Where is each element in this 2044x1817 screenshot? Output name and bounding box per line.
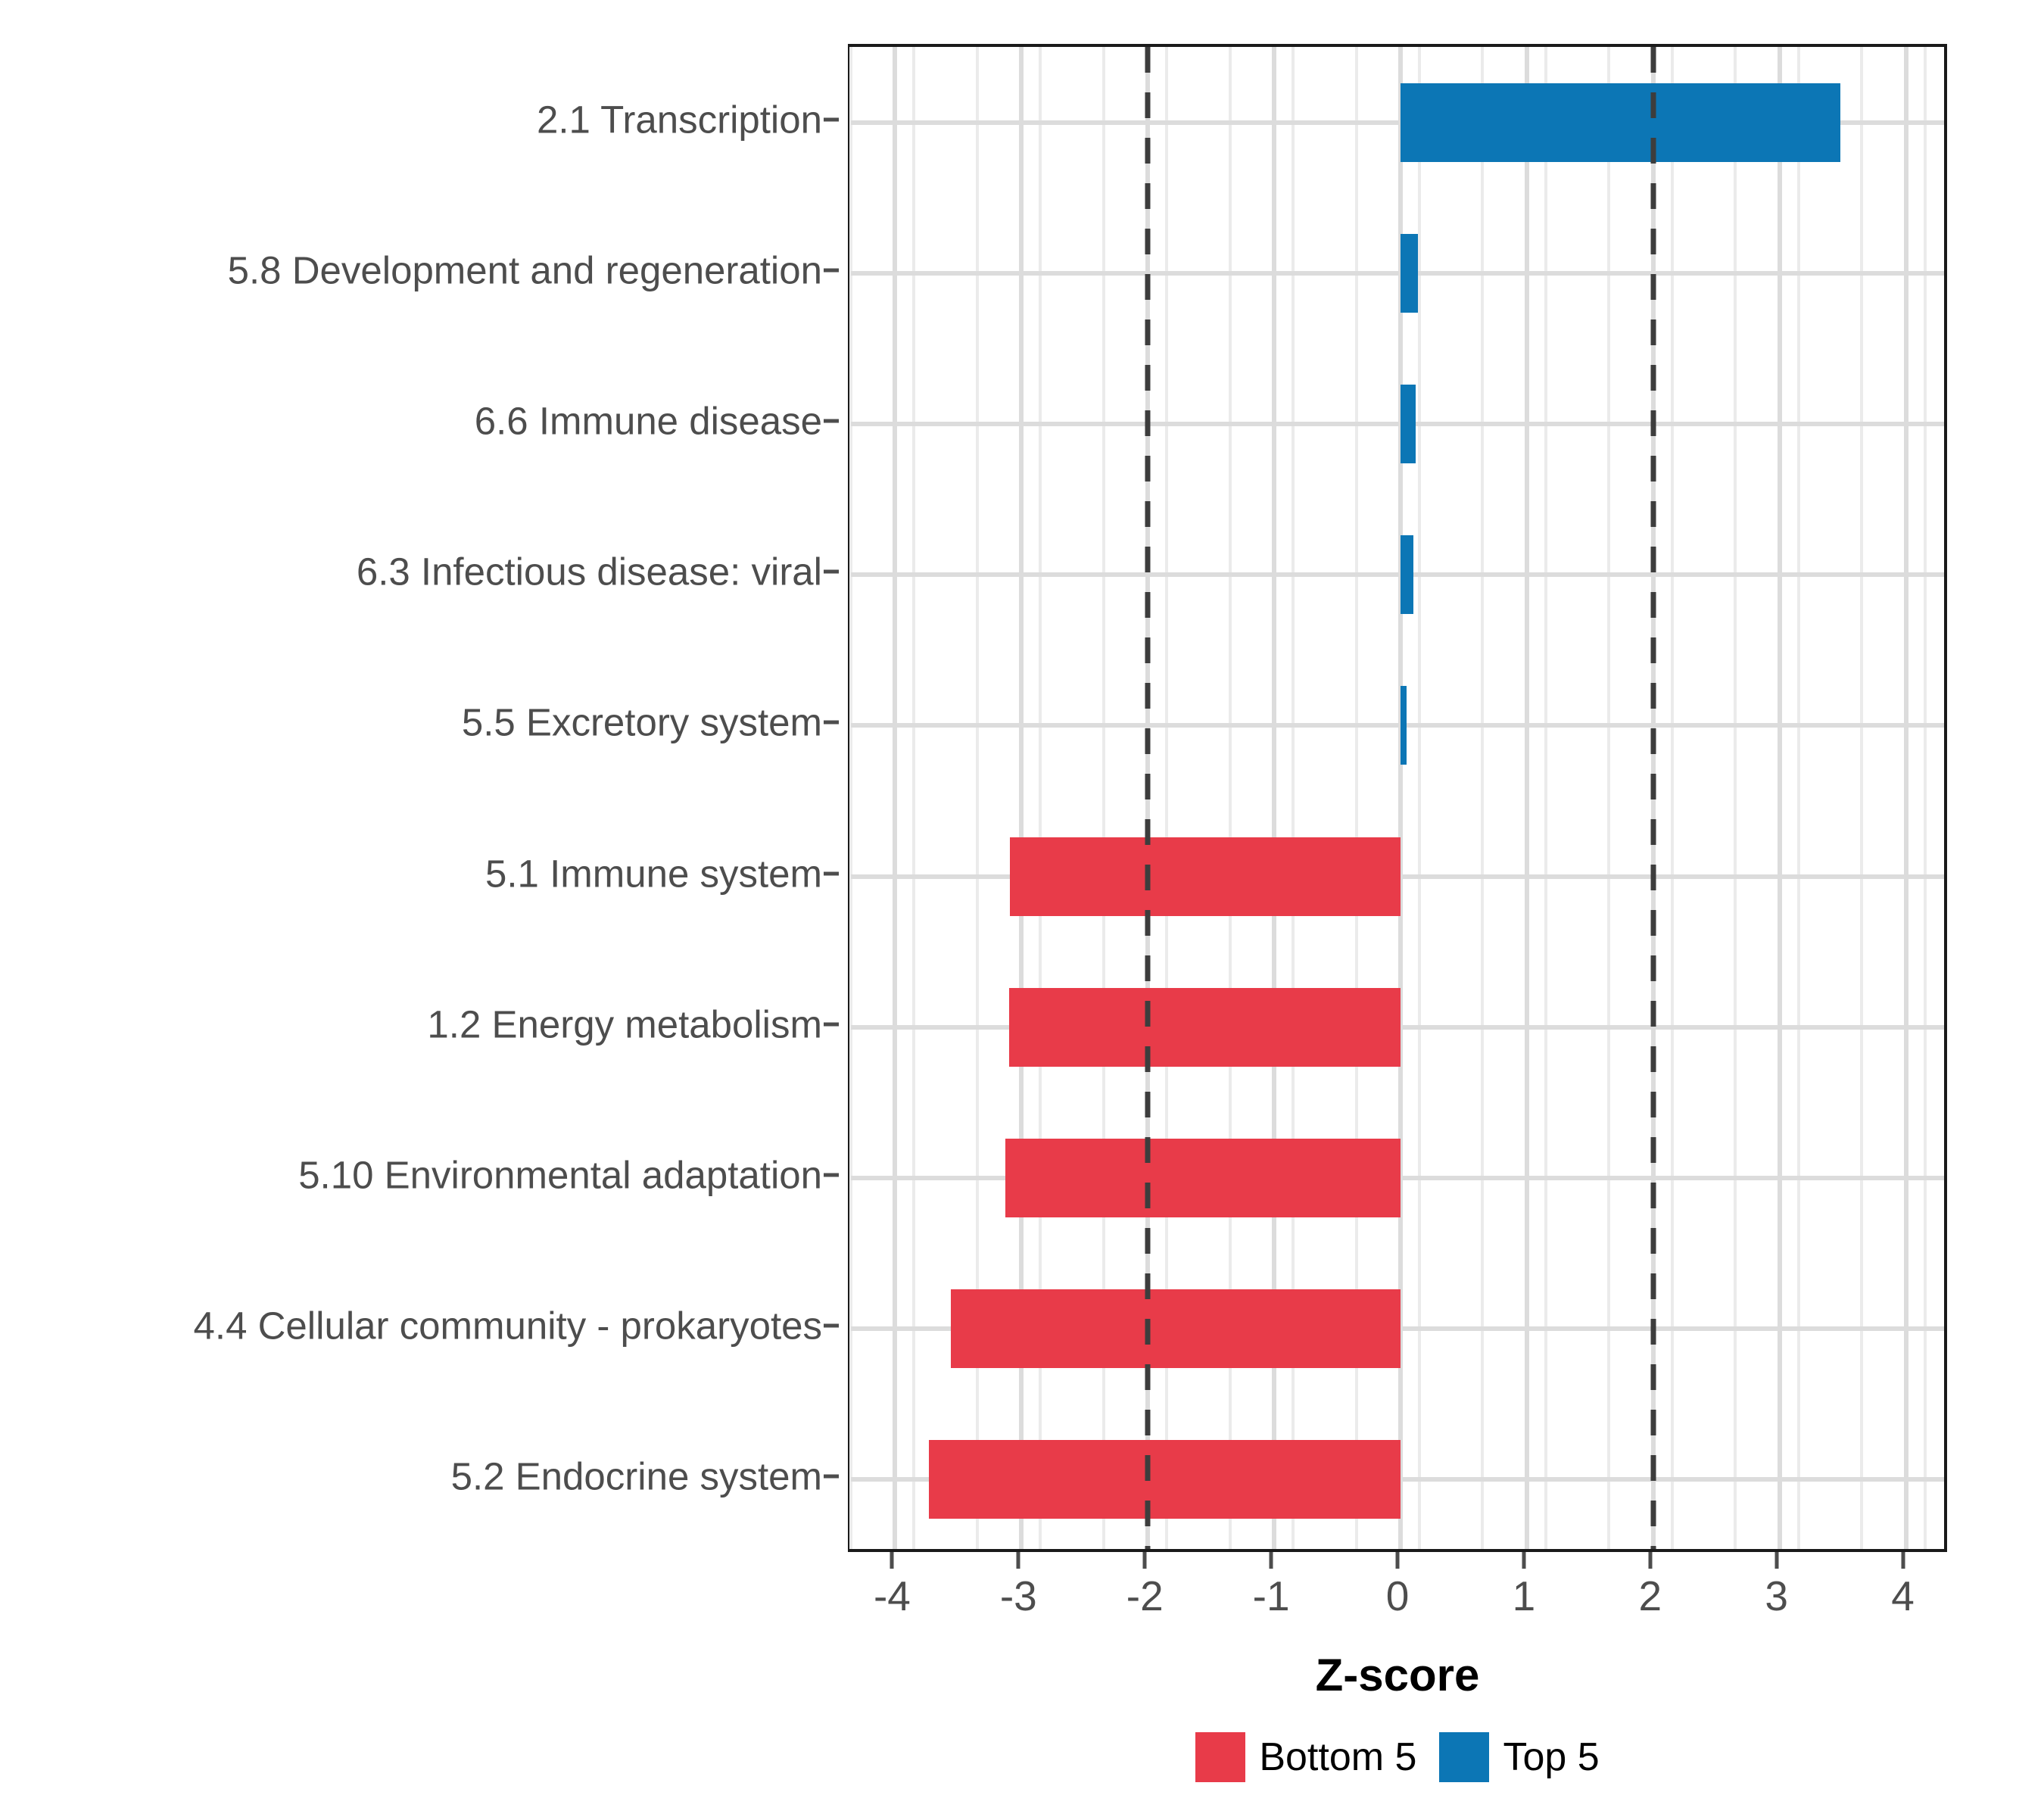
- y-axis-tick-label: 2.1 Transcription: [537, 97, 822, 142]
- bar: [1401, 686, 1407, 765]
- x-axis-tick-label: -1: [1253, 1572, 1290, 1620]
- x-axis-tick-mark: [1396, 1552, 1400, 1569]
- x-axis-title: Z-score: [848, 1649, 1947, 1701]
- x-axis-tick-label: -3: [1000, 1572, 1037, 1620]
- y-axis-tick-mark: [824, 721, 839, 725]
- legend-entry[interactable]: Top 5: [1439, 1732, 1599, 1782]
- bar: [1005, 1139, 1401, 1217]
- y-axis-tick-mark: [824, 1022, 839, 1026]
- x-axis-tick-mark: [1522, 1552, 1525, 1569]
- y-axis-tick-mark: [824, 117, 839, 121]
- x-axis-tick-mark: [1901, 1552, 1905, 1569]
- legend-entry[interactable]: Bottom 5: [1195, 1732, 1416, 1782]
- legend-swatch: [1195, 1732, 1245, 1782]
- gridline-horizontal: [851, 422, 1944, 426]
- y-axis-tick-label: 1.2 Energy metabolism: [427, 1002, 822, 1046]
- y-axis-tick-label: 6.3 Infectious disease: viral: [357, 550, 822, 594]
- y-axis-tick-mark: [824, 268, 839, 272]
- threshold-line: [1145, 47, 1151, 1549]
- x-axis-tick-mark: [1774, 1552, 1778, 1569]
- chart-figure: 2.1 Transcription5.8 Development and reg…: [0, 0, 2044, 1817]
- y-axis-tick-label: 5.5 Excretory system: [462, 700, 822, 745]
- bar: [1401, 385, 1416, 463]
- gridline-horizontal: [851, 723, 1944, 728]
- y-axis-tick-label: 5.2 Endocrine system: [451, 1454, 822, 1499]
- x-axis-tick-mark: [1648, 1552, 1652, 1569]
- y-axis-tick-mark: [824, 1475, 839, 1479]
- y-axis-tick-mark: [824, 1324, 839, 1328]
- y-axis-tick-label: 5.1 Immune system: [485, 851, 822, 896]
- gridline-horizontal: [851, 572, 1944, 577]
- plot-area: [848, 44, 1947, 1552]
- y-axis-label-group: 2.1 Transcription5.8 Development and reg…: [0, 44, 839, 1552]
- legend-label: Bottom 5: [1259, 1734, 1416, 1780]
- chart-legend: Bottom 5Top 5: [848, 1732, 1947, 1782]
- bar: [1010, 837, 1401, 916]
- x-axis-tick-mark: [1017, 1552, 1020, 1569]
- x-axis-tick-label: 0: [1386, 1572, 1410, 1620]
- legend-swatch: [1439, 1732, 1489, 1782]
- y-axis-tick-mark: [824, 570, 839, 574]
- y-axis-tick-label: 5.8 Development and regeneration: [228, 248, 822, 292]
- threshold-line: [1650, 47, 1656, 1549]
- y-axis-tick-label: 4.4 Cellular community - prokaryotes: [194, 1304, 822, 1348]
- x-axis-tick-mark: [890, 1552, 894, 1569]
- bar: [1401, 234, 1418, 313]
- x-axis-tick-label: 2: [1638, 1572, 1662, 1620]
- bar: [929, 1440, 1401, 1519]
- x-axis-tick-label: -2: [1126, 1572, 1164, 1620]
- x-axis-tick-label: 3: [1765, 1572, 1788, 1620]
- y-axis-tick-label: 5.10 Environmental adaptation: [298, 1153, 822, 1198]
- legend-label: Top 5: [1503, 1734, 1599, 1780]
- y-axis-tick-mark: [824, 871, 839, 875]
- y-axis-tick-mark: [824, 1173, 839, 1177]
- x-axis-tick-mark: [1143, 1552, 1147, 1569]
- bar: [1009, 988, 1401, 1067]
- y-axis-tick-label: 6.6 Immune disease: [475, 399, 822, 444]
- x-axis: -4-3-2-101234: [848, 1552, 1947, 1650]
- y-axis-tick-mark: [824, 419, 839, 423]
- x-axis-tick-label: 4: [1891, 1572, 1915, 1620]
- x-axis-tick-mark: [1270, 1552, 1273, 1569]
- bar: [951, 1289, 1401, 1368]
- bar: [1401, 535, 1413, 614]
- bar: [1401, 83, 1840, 162]
- x-axis-tick-label: -4: [874, 1572, 911, 1620]
- x-axis-tick-label: 1: [1513, 1572, 1536, 1620]
- gridline-horizontal: [851, 271, 1944, 276]
